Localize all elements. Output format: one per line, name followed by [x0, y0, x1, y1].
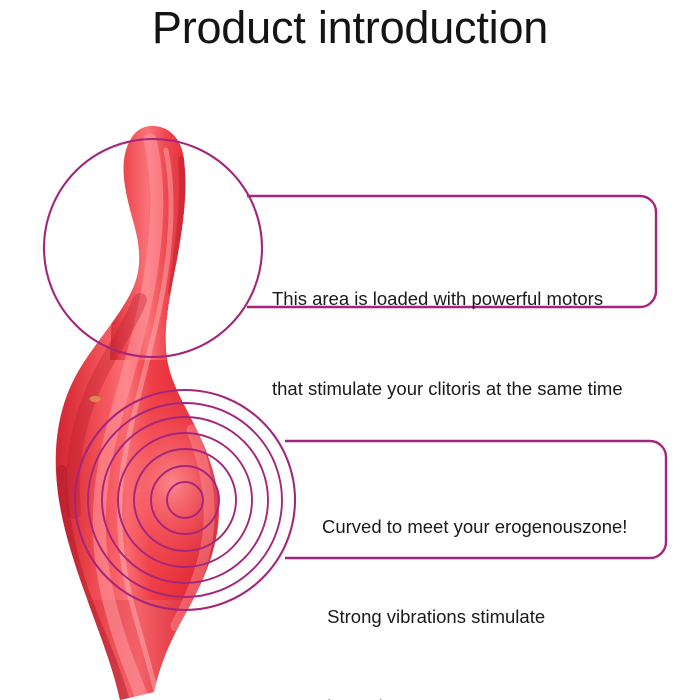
callout-powerful-motors-text: This area is loaded with powerful motors…: [272, 224, 644, 464]
callout-1-line-2: that stimulate your clitoris at the same…: [272, 374, 644, 404]
control-button-detail: [90, 396, 101, 402]
product-body: [40, 120, 266, 700]
callout-erogenous-zone-text: Curved to meet your erogenouszone! Stron…: [322, 452, 652, 700]
callout-2-line-1: Curved to meet your erogenouszone!: [322, 512, 652, 542]
callout-2-line-3: the entire area: [322, 692, 652, 700]
product-introduction-page: Product introduction: [0, 0, 700, 700]
callout-2-line-2: Strong vibrations stimulate: [322, 602, 652, 632]
callout-1-line-1: This area is loaded with powerful motors: [272, 284, 644, 314]
